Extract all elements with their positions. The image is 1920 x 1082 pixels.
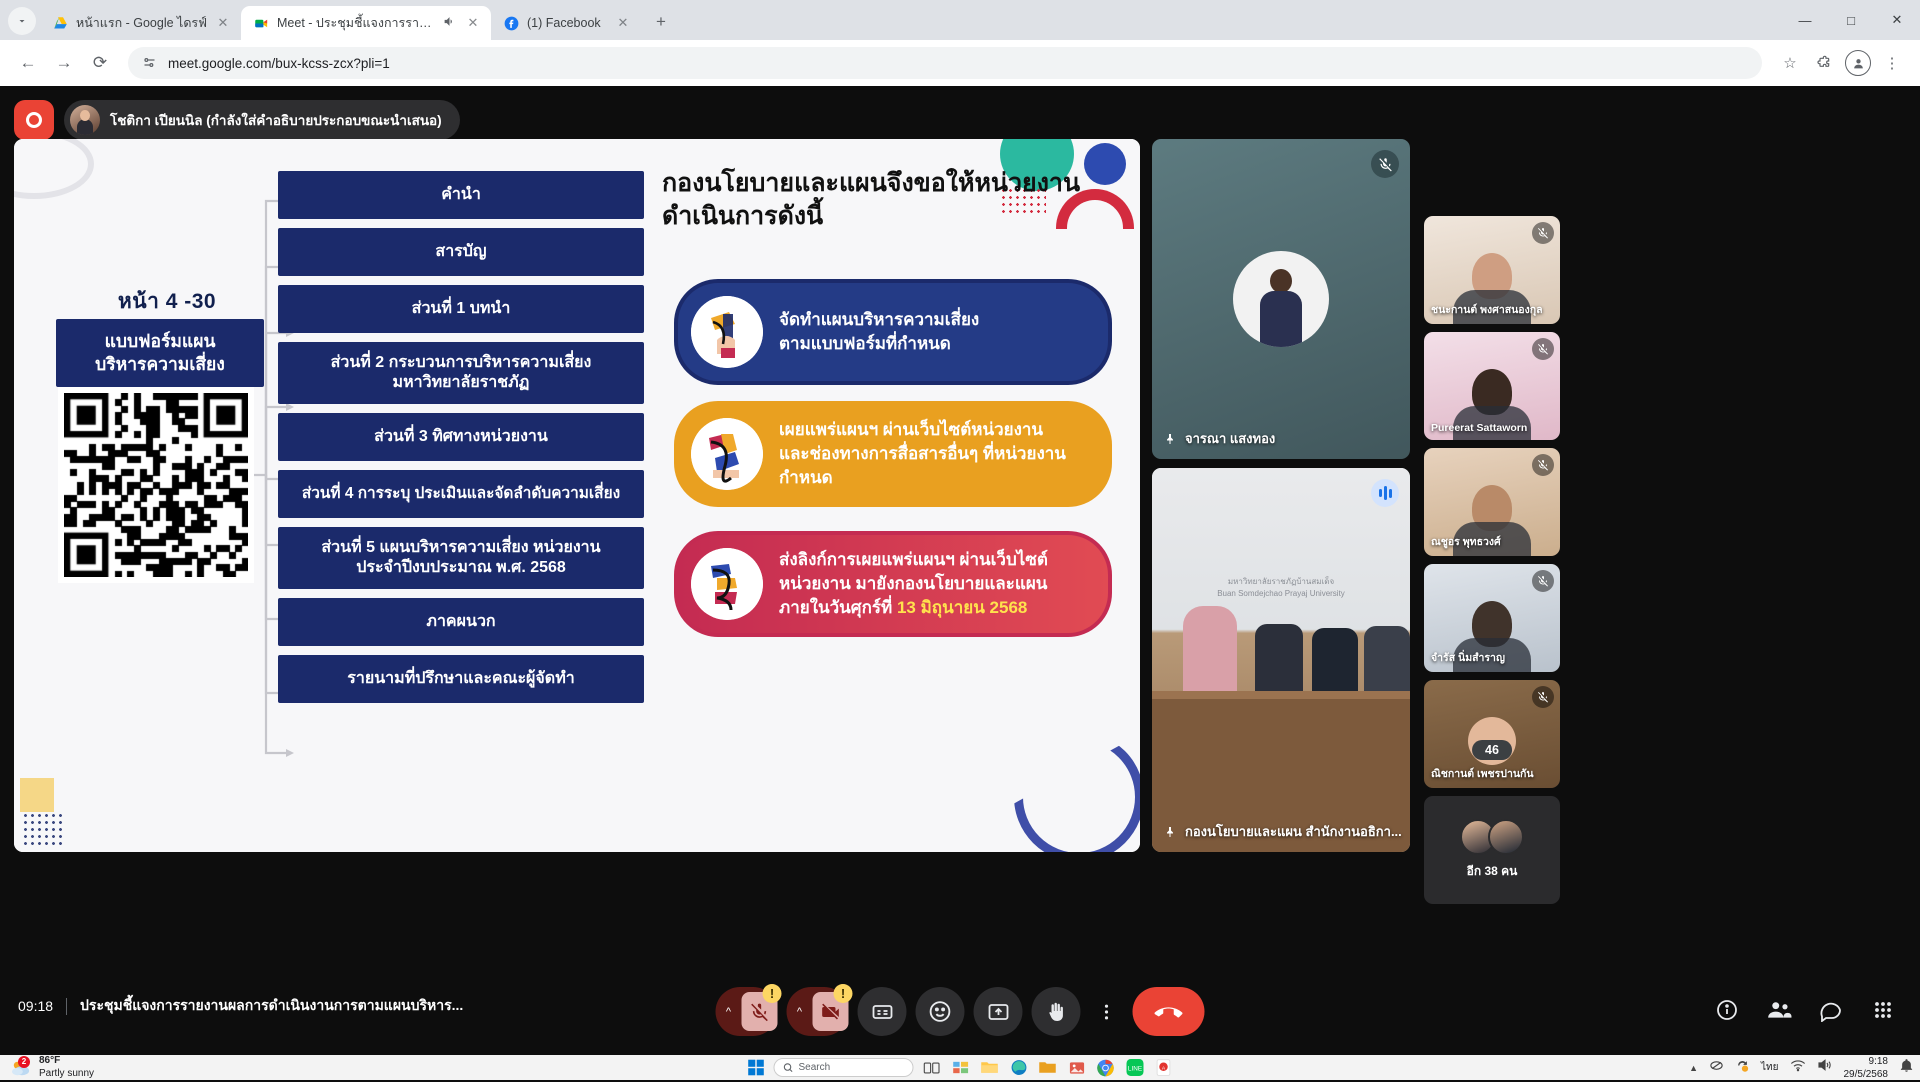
minimize-button[interactable]: — [1782,0,1828,40]
edge-icon[interactable] [1008,1057,1030,1078]
presenter-avatar [70,105,100,135]
svg-text:LINE: LINE [1127,1065,1141,1072]
slide-right-title: กองนโยบายและแผนจึงขอให้หน่วยงานดำเนินการ… [662,167,1132,234]
participant-name: จำรัส นิ่มสำราญ [1431,649,1505,666]
presenting-banner: โชติกา เปียนนิล (กำลังใส่คำอธิบายประกอบข… [14,100,460,140]
slide-section-box-4: ส่วนที่ 3 ทิศทางหน่วยงาน [278,413,644,461]
no-entry-icon[interactable] [1709,1058,1724,1078]
tab-title-0: หน้าแรก - Google ไดรฟ์ [76,13,207,33]
meet-controls: ^ ! ^ ! [716,987,1205,1036]
slide-section-box-0: คำนำ [278,171,644,219]
meet-icon [253,15,269,31]
meeting-title: ประชุมชี้แจงการรายงานผลการดำเนินงานการตา… [80,995,463,1017]
close-icon[interactable]: ✕ [615,15,631,31]
slide-page-label: หน้า 4 -30 [82,285,252,318]
slide-section-box-8: รายนามที่ปรึกษาและคณะผู้จัดทำ [278,655,644,703]
meeting-time: 09:18 [18,998,53,1014]
mic-off-icon [1532,454,1554,476]
chrome-icon[interactable] [1095,1057,1117,1078]
maximize-button[interactable]: □ [1828,0,1874,40]
participant-tile-4[interactable]: ณิชกานต์ เพชรปานกัน [1424,680,1560,788]
participant-tile-1[interactable]: Pureerat Sattaworn [1424,332,1560,440]
mic-off-icon [1371,150,1399,178]
back-icon[interactable]: ← [12,47,44,79]
more-participants-tile[interactable]: อีก 38 คน [1424,796,1560,904]
weather-widget[interactable]: 2 86°F Partly sunny [0,1055,170,1080]
decor-circle-topleft [14,139,94,199]
chevron-up-icon[interactable]: ^ [716,987,742,1036]
participant-count-badge: 46 [1472,740,1512,760]
windows-taskbar: 2 86°F Partly sunny Search [0,1055,1920,1080]
weather-icon: 2 [10,1059,32,1077]
meet-bottom-bar: 09:18 ประชุมชี้แจงการรายงานผลการดำเนินงา… [0,963,1920,1055]
step-number-2 [691,418,763,490]
notification-bell-icon[interactable] [1899,1058,1914,1078]
slide-form-badge: แบบฟอร์มแผนบริหารความเสี่ยง [56,319,264,387]
camera-warning-badge: ! [834,984,853,1003]
slide-content: หน้า 4 -30 แบบฟอร์มแผนบริหารความเสี่ยง [14,139,1140,852]
slide-section-box-3: ส่วนที่ 2 กระบวนการบริหารความเสี่ยงมหาวิ… [278,342,644,404]
tab-strip: หน้าแรก - Google ไดรฟ์ ✕ Meet - ประชุมชี… [0,0,1920,40]
participant-tile-0[interactable]: ชนะกานต์ พงศาสนองกุล [1424,216,1560,324]
more-participants-label: อีก 38 คน [1467,862,1518,881]
participant-tile-3[interactable]: จำรัส นิ่มสำราญ [1424,564,1560,672]
divider [66,998,67,1015]
step-number-1 [691,296,763,368]
raise-hand-button[interactable] [1032,987,1081,1036]
decor-square-bottomleft [20,778,54,812]
pin-icon [1164,825,1176,839]
taskbar-center: Search LINE A [746,1057,1175,1078]
sync-update-icon[interactable] [1735,1058,1750,1078]
decor-arc-bottomright [1014,732,1140,852]
microphone-button[interactable]: ^ ! [716,987,778,1036]
slide-section-box-5: ส่วนที่ 4 การระบุ ประเมินและจัดลำดับความ… [278,470,644,518]
widgets-icon[interactable] [950,1057,972,1078]
tab-title-1: Meet - ประชุมชี้แจงการรายงาน [277,13,435,33]
clock-date: 29/5/2568 [1844,1069,1889,1080]
slide-step-2: เผยแพร่แผนฯ ผ่านเว็บไซต์หน่วยงานและช่องท… [674,401,1112,507]
participant-name: จารณา แสงทอง [1164,428,1275,449]
mic-off-icon [1532,338,1554,360]
chat-icon[interactable] [1814,993,1848,1027]
more-options-button[interactable] [1090,987,1124,1036]
step-number-3 [691,548,763,620]
weather-desc: Partly sunny [39,1068,94,1079]
search-icon [783,1062,794,1073]
participant-tile-pinned-0[interactable]: จารณา แสงทอง [1152,139,1410,459]
chrome-menu-icon[interactable]: ⋮ [1876,47,1908,79]
presenter-name: โชติกา เปียนนิล (กำลังใส่คำอธิบายประกอบข… [110,109,442,131]
search-placeholder: Search [799,1062,831,1073]
line-icon[interactable]: LINE [1124,1057,1146,1078]
task-view-icon[interactable] [921,1057,943,1078]
pin-icon [1164,432,1176,446]
window-controls: — □ ✕ [1782,0,1920,40]
leave-call-button[interactable] [1133,987,1205,1036]
recording-indicator-icon [14,100,54,140]
meeting-info: 09:18 ประชุมชี้แจงการรายงานผลการดำเนินงา… [18,995,463,1017]
notification-badge: 2 [18,1056,30,1068]
close-icon[interactable]: ✕ [465,15,481,31]
people-icon[interactable] [1762,993,1796,1027]
file-explorer-icon[interactable] [979,1057,1001,1078]
slide-section-box-7: ภาคผนวก [278,598,644,646]
camera-button[interactable]: ^ ! [787,987,849,1036]
weather-temp: 86°F [39,1055,94,1068]
step-text-3: ส่งลิงก์การเผยแพร่แผนฯ ผ่านเว็บไซต์หน่วย… [779,548,1048,620]
participant-name: กองนโยบายและแผน สำนักงานอธิกา... [1164,821,1402,842]
omnibox-actions: ☆ ⋮ [1774,47,1908,79]
url-text: meet.google.com/bux-kcss-zcx?pli=1 [168,56,390,71]
step-text-2: เผยแพร่แผนฯ ผ่านเว็บไซต์หน่วยงานและช่องท… [779,418,1066,490]
mic-off-icon [1532,222,1554,244]
browser-tab-1[interactable]: Meet - ประชุมชี้แจงการรายงาน ✕ [241,6,491,40]
mic-off-icon [1532,686,1554,708]
avatar [1845,50,1871,76]
qr-code [58,387,254,583]
facebook-icon [503,15,519,31]
mic-off-icon [1532,570,1554,592]
slide-section-box-2: ส่วนที่ 1 บทนำ [278,285,644,333]
weather-text: 86°F Partly sunny [39,1055,94,1080]
participant-tile-pinned-1[interactable]: มหาวิทยาลัยราชภัฏบ้านสมเด็จBuan Somdejch… [1152,468,1410,852]
slide-step-1: จัดทำแผนบริหารความเสี่ยงตามแบบฟอร์มที่กำ… [674,279,1112,385]
pdf-icon[interactable]: A [1153,1057,1175,1078]
language-indicator[interactable]: ไทย [1761,1060,1778,1075]
participant-name: Pureerat Sattaworn [1431,422,1527,434]
participant-strip: ชนะกานต์ พงศาสนองกุลPureerat Sattawornณช… [1424,216,1560,912]
folder-icon[interactable] [1037,1057,1059,1078]
presenter-chip: โชติกา เปียนนิล (กำลังใส่คำอธิบายประกอบข… [64,100,460,140]
meet-right-controls [1710,993,1900,1027]
extensions-icon[interactable] [1808,47,1840,79]
forward-icon[interactable]: → [48,47,80,79]
audio-level-icon [1371,479,1399,507]
taskbar-clock[interactable]: 9:18 29/5/2568 [1844,1055,1889,1081]
system-tray: ▲ ไทย 9:18 29/5/2568 [1689,1055,1914,1081]
activities-icon[interactable] [1866,993,1900,1027]
tab-title-2: (1) Facebook [527,16,607,30]
wall-logo: มหาวิทยาลัยราชภัฏบ้านสมเด็จBuan Somdejch… [1217,576,1345,600]
captions-button[interactable] [858,987,907,1036]
close-icon[interactable]: ✕ [215,15,231,31]
participant-name: ณชูอร พุทธวงศ์ [1431,533,1501,550]
drive-icon [52,15,68,31]
new-tab-button[interactable]: + [647,8,675,36]
address-bar[interactable]: meet.google.com/bux-kcss-zcx?pli=1 [128,47,1762,79]
step-text-1: จัดทำแผนบริหารความเสี่ยงตามแบบฟอร์มที่กำ… [779,308,979,356]
participant-name: ชนะกานต์ พงศาสนองกุล [1431,301,1543,318]
wifi-icon[interactable] [1790,1059,1806,1077]
reload-icon[interactable]: ⟳ [84,47,116,79]
participant-tile-2[interactable]: ณชูอร พุทธวงศ์ [1424,448,1560,556]
profile-avatar-icon[interactable] [1842,47,1874,79]
pinned-tiles-column: จารณา แสงทอง มหาวิทยาลัยราชภัฏบ้านสมเด็จ… [1152,139,1410,852]
avatar-group [1460,819,1524,855]
start-button-icon[interactable] [746,1057,767,1078]
show-hidden-icons-icon[interactable]: ▲ [1689,1063,1698,1073]
slide-step-3: ส่งลิงก์การเผยแพร่แผนฯ ผ่านเว็บไซต์หน่วย… [674,531,1112,637]
tab-audio-icon[interactable] [443,15,457,31]
browser-tab-0[interactable]: หน้าแรก - Google ไดรฟ์ ✕ [40,6,241,40]
decor-dots-bottomleft [22,812,64,846]
photos-icon[interactable] [1066,1057,1088,1078]
tab-search-button[interactable] [8,7,36,35]
clock-time: 9:18 [1869,1056,1888,1067]
reactions-button[interactable] [916,987,965,1036]
avatar [1488,819,1524,855]
slide-section-list: คำนำสารบัญส่วนที่ 1 บทนำส่วนที่ 2 กระบวน… [278,171,644,703]
volume-icon[interactable] [1817,1058,1833,1077]
chrome-browser-window: หน้าแรก - Google ไดรฟ์ ✕ Meet - ประชุมชี… [0,0,1920,1055]
taskbar-search-input[interactable]: Search [774,1058,914,1077]
participant-name: ณิชกานต์ เพชรปานกัน [1431,765,1534,782]
site-settings-icon[interactable] [142,55,158,71]
close-window-button[interactable]: ✕ [1874,0,1920,40]
mic-warning-badge: ! [763,984,782,1003]
browser-tab-2[interactable]: (1) Facebook ✕ [491,6,641,40]
meeting-details-icon[interactable] [1710,993,1744,1027]
present-screen-button[interactable] [974,987,1023,1036]
presentation-stage[interactable]: หน้า 4 -30 แบบฟอร์มแผนบริหารความเสี่ยง [14,139,1140,852]
omnibox-bar: ← → ⟳ meet.google.com/bux-kcss-zcx?pli=1… [0,40,1920,86]
google-meet-app: โชติกา เปียนนิล (กำลังใส่คำอธิบายประกอบข… [0,86,1920,1055]
slide-section-box-1: สารบัญ [278,228,644,276]
avatar [1233,251,1329,347]
chevron-up-icon[interactable]: ^ [787,987,813,1036]
meeting-room-video: มหาวิทยาลัยราชภัฏบ้านสมเด็จBuan Somdejch… [1152,468,1410,852]
bookmark-star-icon[interactable]: ☆ [1774,47,1806,79]
slide-section-box-6: ส่วนที่ 5 แผนบริหารความเสี่ยง หน่วยงานปร… [278,527,644,589]
